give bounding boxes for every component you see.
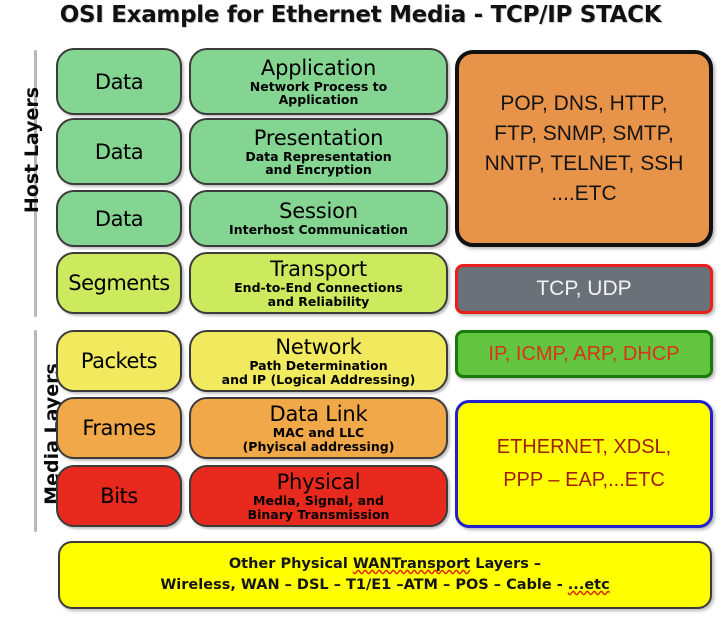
bottom-banner-line1: Other Physical WANTransport Layers –: [229, 554, 541, 575]
bottom-banner-line2-misspelled: ...etc: [568, 577, 610, 593]
layer-description: Media, Signal, and Binary Transmission: [248, 494, 390, 521]
pdu-pill-application[interactable]: Data: [56, 48, 182, 115]
layer-description: Data Representation and Encryption: [245, 150, 391, 177]
layer-description: Interhost Communication: [229, 223, 408, 237]
layer-description-line2: and Reliability: [268, 294, 370, 309]
layer-pill-presentation[interactable]: Presentation Data Representation and Enc…: [189, 118, 448, 185]
pdu-pill-transport[interactable]: Segments: [56, 252, 182, 314]
layer-name: Transport: [270, 258, 367, 280]
pdu-label: Segments: [68, 271, 169, 295]
layer-pill-physical[interactable]: Physical Media, Signal, and Binary Trans…: [189, 465, 448, 527]
layer-description: End-to-End Connections and Reliability: [234, 281, 403, 308]
bottom-banner-line1-a: Other Physical: [229, 556, 353, 572]
pdu-pill-data-link[interactable]: Frames: [56, 397, 182, 459]
pdu-pill-physical[interactable]: Bits: [56, 465, 182, 527]
pdu-label: Frames: [82, 416, 155, 440]
bottom-banner-line2-a: Wireless, WAN – DSL – T1/E1 –ATM – POS –…: [160, 577, 567, 593]
protocol-transport-text: TCP, UDP: [536, 277, 631, 301]
bottom-banner-line1-c: Layers –: [470, 556, 541, 572]
layer-pill-network[interactable]: Network Path Determination and IP (Logic…: [189, 330, 448, 392]
layer-name: Application: [261, 57, 376, 79]
media-layers-bracket: [34, 330, 37, 532]
protocol-line-1: POP, DNS, HTTP,: [500, 92, 667, 115]
bottom-banner-line2: Wireless, WAN – DSL – T1/E1 –ATM – POS –…: [160, 575, 609, 596]
layer-name: Data Link: [269, 403, 367, 425]
pdu-label: Data: [95, 140, 143, 164]
layer-description-line2: and IP (Logical Addressing): [222, 372, 416, 387]
bottom-banner[interactable]: Other Physical WANTransport Layers – Wir…: [58, 541, 712, 609]
host-layers-label: Host Layers: [21, 70, 45, 230]
layer-name: Network: [275, 336, 361, 358]
layer-description-line2: (Phyiscal addressing): [243, 439, 395, 454]
layer-description-line2: Binary Transmission: [248, 507, 390, 522]
pdu-label: Data: [95, 70, 143, 94]
protocol-line-2: FTP, SNMP, SMTP,: [494, 122, 674, 145]
protocol-line-1: ETHERNET, XDSL,: [497, 436, 671, 458]
layer-description-line1: Interhost Communication: [229, 222, 408, 237]
protocol-line-3: NNTP, TELNET, SSH: [485, 152, 684, 175]
pdu-label: Packets: [81, 349, 157, 373]
pdu-label: Data: [95, 207, 143, 231]
layer-description: Path Determination and IP (Logical Addre…: [222, 359, 416, 386]
protocol-box-media[interactable]: ETHERNET, XDSL, PPP – EAP,...ETC: [455, 400, 713, 528]
page-title: OSI Example for Ethernet Media - TCP/IP …: [0, 2, 721, 28]
pdu-pill-presentation[interactable]: Data: [56, 118, 182, 185]
layer-name: Physical: [277, 471, 361, 493]
bottom-banner-line1-misspelled: WANTransport: [353, 556, 470, 572]
layer-pill-transport[interactable]: Transport End-to-End Connections and Rel…: [189, 252, 448, 314]
layer-pill-data-link[interactable]: Data Link MAC and LLC (Phyiscal addressi…: [189, 397, 448, 459]
layer-description-line2: and Encryption: [265, 162, 372, 177]
layer-description: MAC and LLC (Phyiscal addressing): [243, 426, 395, 453]
pdu-pill-session[interactable]: Data: [56, 190, 182, 247]
protocol-network-text: IP, ICMP, ARP, DHCP: [488, 343, 679, 366]
layer-description: Network Process to Application: [250, 80, 387, 107]
protocol-box-network[interactable]: IP, ICMP, ARP, DHCP: [455, 330, 713, 378]
layer-name: Presentation: [254, 127, 384, 149]
layer-pill-session[interactable]: Session Interhost Communication: [189, 190, 448, 247]
pdu-label: Bits: [100, 484, 137, 508]
protocol-box-transport[interactable]: TCP, UDP: [455, 264, 713, 314]
layer-description-line2: Application: [279, 92, 359, 107]
pdu-pill-network[interactable]: Packets: [56, 330, 182, 392]
layer-pill-application[interactable]: Application Network Process to Applicati…: [189, 48, 448, 115]
layer-name: Session: [279, 200, 358, 222]
protocol-application-text: POP, DNS, HTTP, FTP, SNMP, SMTP, NNTP, T…: [485, 89, 684, 209]
protocol-media-text: ETHERNET, XDSL, PPP – EAP,...ETC: [497, 431, 671, 497]
protocol-box-application[interactable]: POP, DNS, HTTP, FTP, SNMP, SMTP, NNTP, T…: [455, 50, 713, 247]
protocol-line-2: PPP – EAP,...ETC: [503, 469, 665, 491]
protocol-line-4: ....ETC: [551, 182, 616, 205]
